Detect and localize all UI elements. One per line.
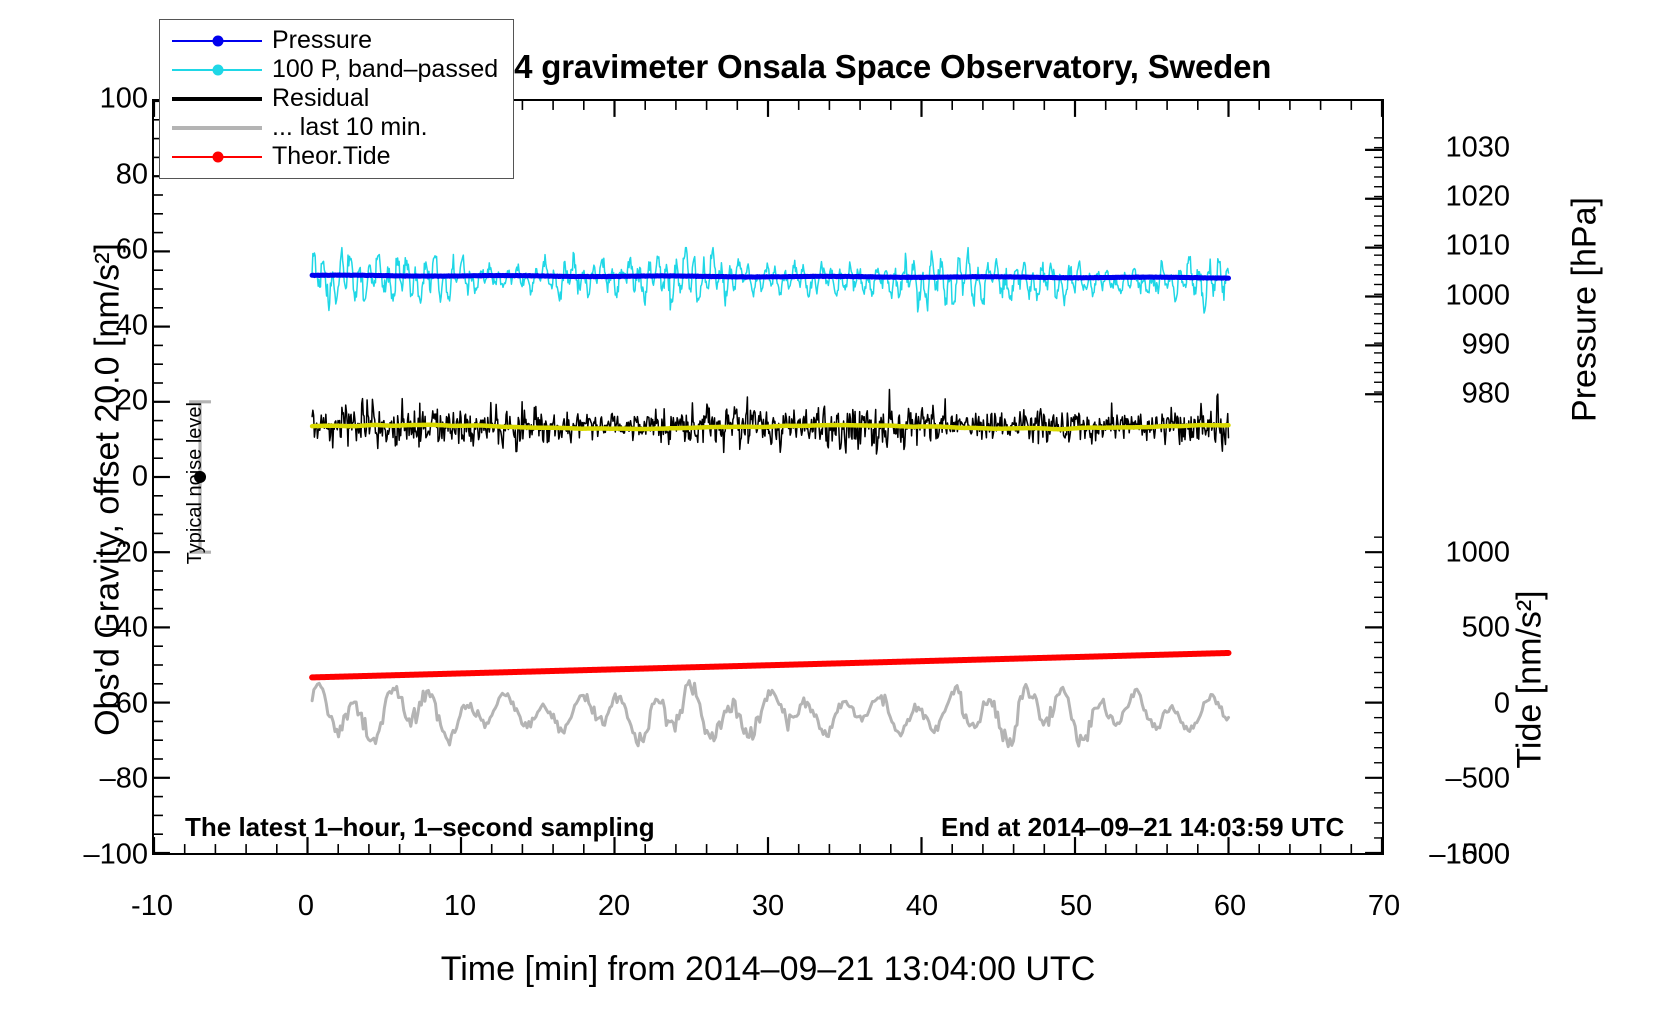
x-axis-tick-label: 10	[444, 890, 476, 923]
tide-axis-tick-label: ‒1500	[1400, 839, 1510, 872]
legend-dot-icon	[213, 151, 224, 162]
legend-item[interactable]: Theor.Tide	[160, 142, 513, 171]
pressure-axis-tick-label: 1030	[1400, 132, 1510, 165]
legend-item-label: Pressure	[272, 26, 372, 55]
series-residual	[312, 390, 1228, 454]
legend-item-label: ... last 10 min.	[272, 113, 428, 142]
plot-canvas	[154, 101, 1382, 853]
tide-axis-tick-label: 0	[1400, 687, 1510, 720]
legend-key-swatch	[172, 60, 262, 80]
legend-item[interactable]: Residual	[160, 84, 513, 113]
legend-key-swatch	[172, 118, 262, 138]
annotation-sampling: The latest 1‒hour, 1‒second sampling	[185, 812, 655, 843]
legend-key-swatch	[172, 31, 262, 51]
legend-key-swatch	[172, 89, 262, 109]
tide-axis-tick-label: 1000	[1400, 536, 1510, 569]
legend-key-swatch	[172, 147, 262, 167]
x-axis-tick-label: 50	[1060, 890, 1092, 923]
series-theor-tide	[312, 653, 1228, 677]
x-axis-tick-label: 20	[598, 890, 630, 923]
plot-area	[152, 99, 1384, 855]
right-axis-title-pressure: Pressure [hPa]	[1566, 100, 1605, 520]
y-axis-title: Obs'd Gravity, offset 20.0 [nm/s²]	[89, 120, 128, 860]
x-axis-tick-label: 30	[752, 890, 784, 923]
x-axis-tick-label: 70	[1368, 890, 1400, 923]
chart-root: SCG_054 gravimeter Onsala Space Observat…	[0, 0, 1660, 1020]
pressure-axis-tick-label: 1000	[1400, 279, 1510, 312]
annotation-noise-level-label: Typical noise level	[184, 402, 207, 564]
legend-item[interactable]: 100 P, band‒passed	[160, 55, 513, 84]
legend-dot-icon	[213, 64, 224, 75]
x-axis-tick-label: -10	[131, 890, 173, 923]
x-axis-tick-label: 0	[298, 890, 314, 923]
annotation-end-time: End at 2014‒09‒21 14:03:59 UTC	[941, 812, 1344, 843]
legend-line-icon	[172, 97, 262, 101]
legend-item[interactable]: Pressure	[160, 26, 513, 55]
pressure-axis-tick-label: 980	[1400, 377, 1510, 410]
tide-axis-tick-label: ‒500	[1400, 763, 1510, 796]
legend-item-label: Residual	[272, 84, 369, 113]
series-pressure	[312, 275, 1228, 278]
legend-line-icon	[172, 126, 262, 130]
legend-dot-icon	[213, 35, 224, 46]
right-axis-title-tide: Tide [nm/s²]	[1511, 530, 1550, 830]
tide-axis-tick-label: 500	[1400, 612, 1510, 645]
x-axis-tick-label: 60	[1214, 890, 1246, 923]
pressure-axis-tick-label: 1010	[1400, 230, 1510, 263]
x-axis-title: Time [min] from 2014‒09‒21 13:04:00 UTC	[152, 950, 1384, 989]
series-bandpassed	[312, 248, 1228, 313]
y-axis-tick-label: 100	[100, 83, 148, 116]
y-axis-tick-label: 0	[132, 461, 148, 494]
x-axis-tick-label: 40	[906, 890, 938, 923]
axis-ticks	[154, 101, 1382, 853]
chart-legend: Pressure100 P, band‒passedResidual... la…	[159, 19, 514, 179]
pressure-axis-tick-label: 1020	[1400, 181, 1510, 214]
legend-item-label: 100 P, band‒passed	[272, 55, 498, 84]
legend-item-label: Theor.Tide	[272, 142, 391, 171]
series-last-10-min	[312, 681, 1228, 747]
pressure-axis-tick-label: 990	[1400, 328, 1510, 361]
legend-item[interactable]: ... last 10 min.	[160, 113, 513, 142]
